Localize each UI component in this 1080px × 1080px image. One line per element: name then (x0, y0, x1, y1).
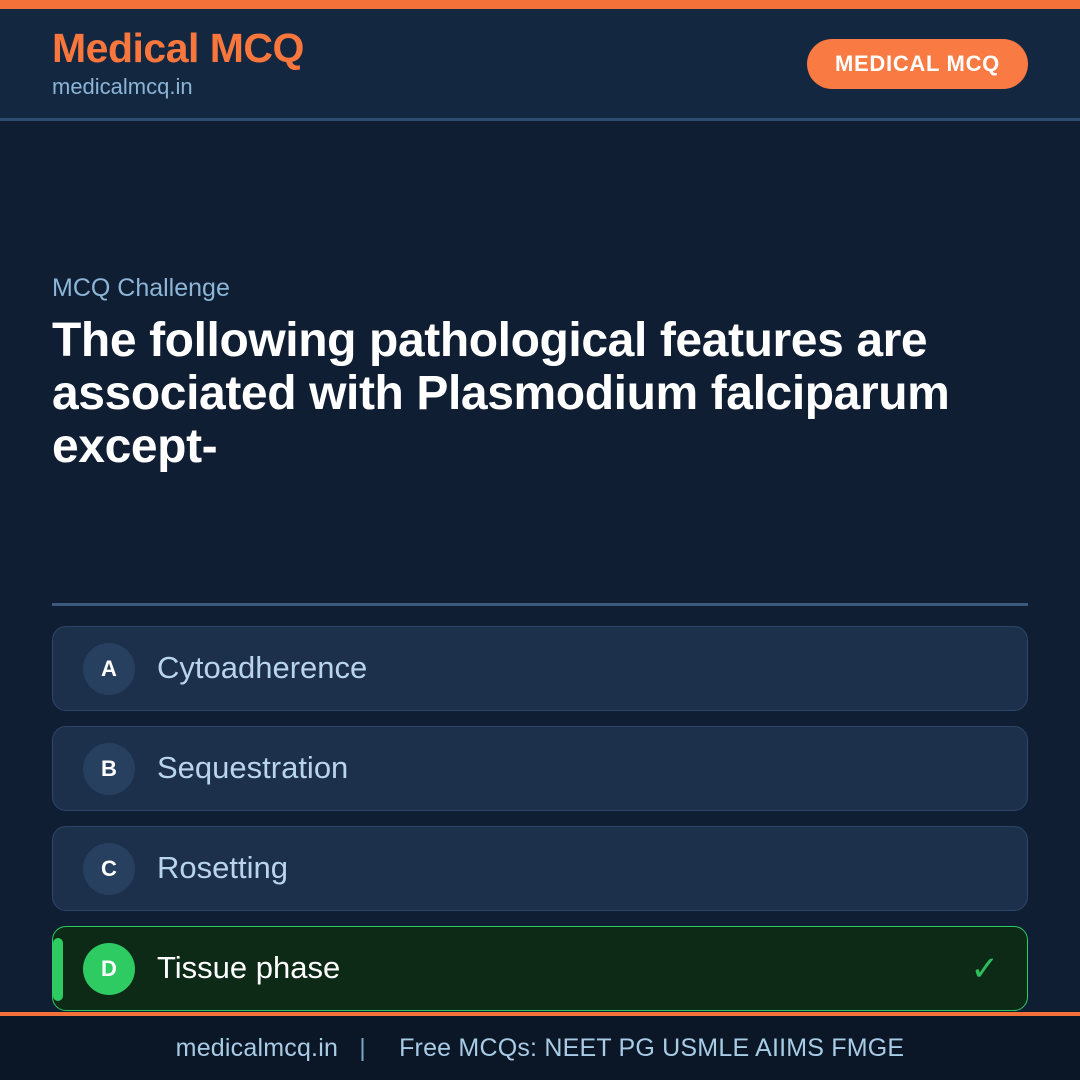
main-content: MCQ Challenge The following pathological… (0, 121, 1080, 1012)
footer-bar: medicalmcq.in | Free MCQs: NEET PG USMLE… (0, 1012, 1080, 1080)
option-row-b[interactable]: B Sequestration ✓ (52, 726, 1028, 811)
mcq-card: Medical MCQ medicalmcq.in MEDICAL MCQ MC… (0, 0, 1080, 1080)
option-letter-a: A (83, 643, 135, 695)
option-label-b: Sequestration (157, 751, 348, 785)
question-kicker: MCQ Challenge (52, 273, 1028, 303)
brand-subtitle: medicalmcq.in (52, 73, 304, 102)
brand-badge: MEDICAL MCQ (807, 39, 1028, 89)
option-label-d: Tissue phase (157, 951, 340, 985)
option-label-c: Rosetting (157, 851, 288, 885)
footer-separator: | (345, 1034, 380, 1062)
footer-site: medicalmcq.in (176, 1034, 338, 1062)
header-bar: Medical MCQ medicalmcq.in MEDICAL MCQ (0, 9, 1080, 121)
top-accent-bar (0, 0, 1080, 9)
brand-title: Medical MCQ (52, 26, 304, 70)
option-row-d[interactable]: D Tissue phase ✓ (52, 926, 1028, 1011)
footer-exams: Free MCQs: NEET PG USMLE AIIMS FMGE (387, 1034, 904, 1062)
option-letter-c: C (83, 843, 135, 895)
correct-accent-bar (53, 938, 63, 1001)
brand: Medical MCQ medicalmcq.in (52, 26, 304, 102)
options-list: A Cytoadherence ✓ B Sequestration ✓ C Ro… (52, 626, 1028, 1011)
question-text: The following pathological features are … (52, 315, 1028, 473)
question-block: MCQ Challenge The following pathological… (52, 273, 1028, 473)
option-label-a: Cytoadherence (157, 651, 367, 685)
option-row-c[interactable]: C Rosetting ✓ (52, 826, 1028, 911)
question-divider (52, 603, 1028, 606)
option-letter-b: B (83, 743, 135, 795)
check-icon-d: ✓ (971, 952, 1000, 986)
option-letter-d: D (83, 943, 135, 995)
footer-text: medicalmcq.in | Free MCQs: NEET PG USMLE… (176, 1034, 905, 1063)
option-row-a[interactable]: A Cytoadherence ✓ (52, 626, 1028, 711)
